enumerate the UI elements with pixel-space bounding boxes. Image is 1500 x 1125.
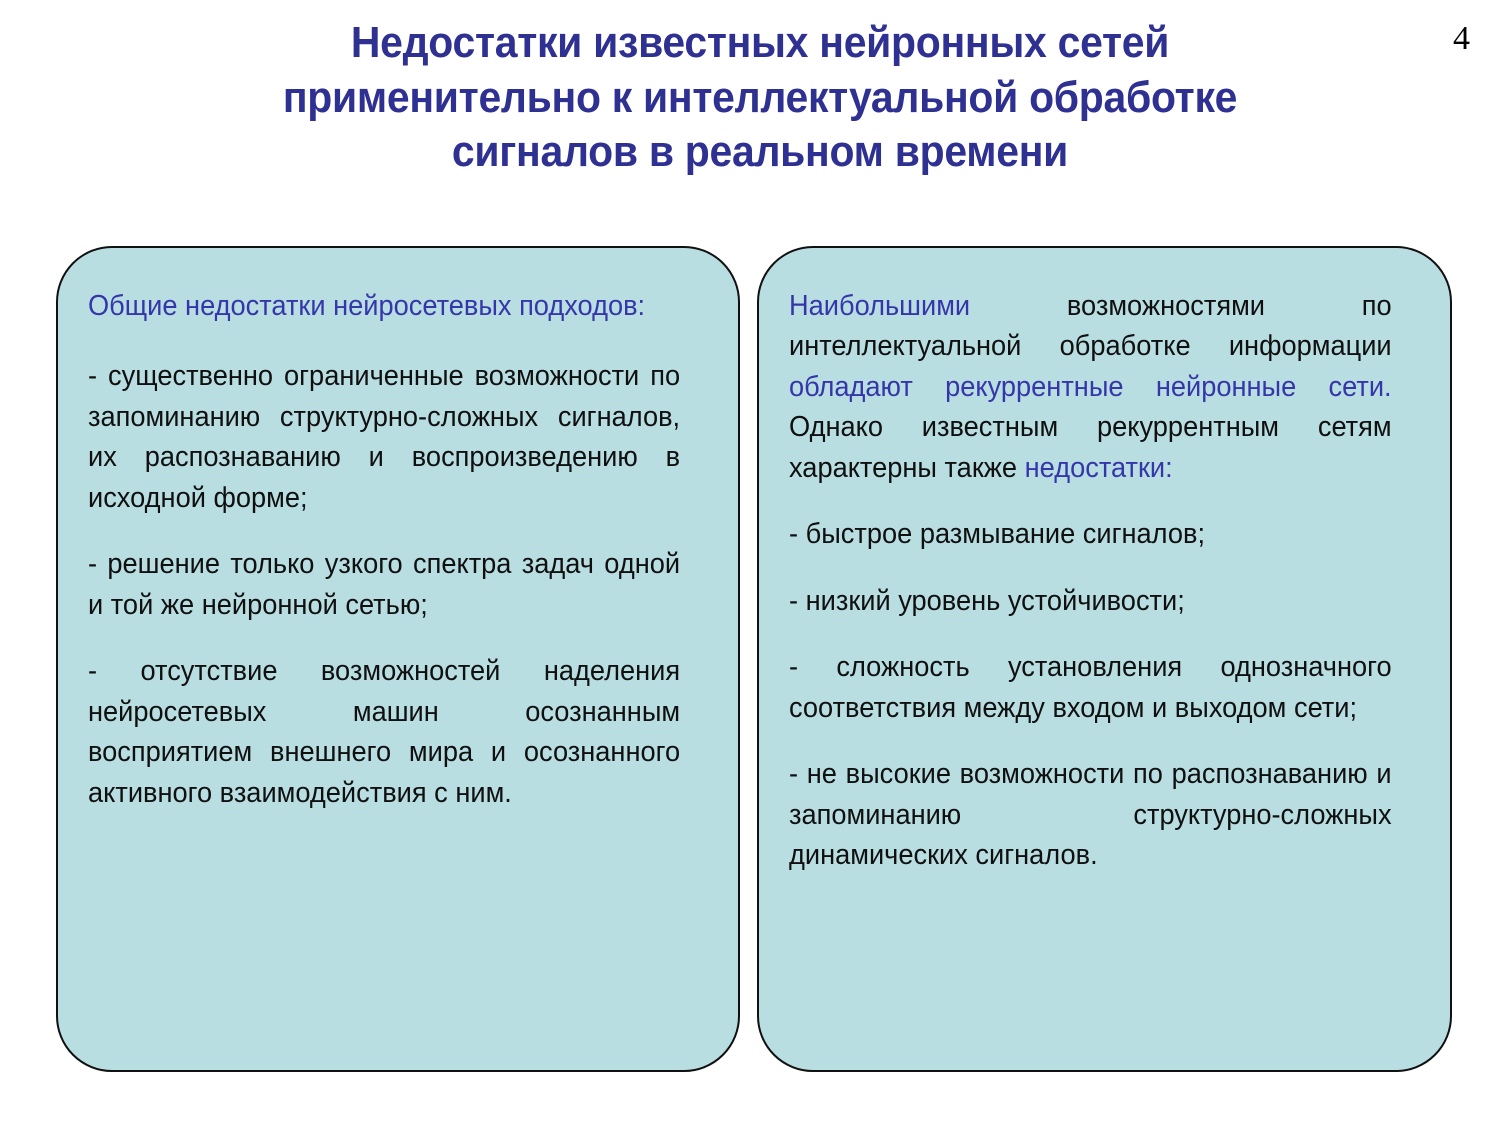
title-line-2: применительно к интеллектуальной обработ… — [165, 71, 1355, 126]
right-panel-bullet-3: - сложность установления однозначного со… — [789, 647, 1392, 728]
page-title: Недостатки известных нейронных сетей при… — [165, 16, 1355, 180]
slide-number: 4 — [1453, 22, 1470, 56]
panel-left-content: Общие недостатки нейросетевых подходов: … — [58, 248, 738, 1070]
left-panel-bullet-2: - решение только узкого спектра задач од… — [88, 544, 680, 625]
slide-root: 4 Недостатки известных нейронных сетей п… — [0, 0, 1500, 1125]
right-panel-intro: Наибольшими возможностями по интеллектуа… — [789, 286, 1392, 488]
right-panel-bullet-4: - не высокие возможности по распознавани… — [789, 754, 1392, 875]
right-intro-part2: обладают рекуррентные нейронные сети. — [789, 371, 1392, 403]
right-intro-part4: недостатки: — [1025, 452, 1173, 484]
panel-right-content: Наибольшими возможностями по интеллектуа… — [759, 248, 1450, 1070]
left-panel-bullet-3: - отсутствие возможностей наделения нейр… — [88, 651, 680, 813]
panel-recurrent-networks: Наибольшими возможностями по интеллектуа… — [757, 246, 1452, 1072]
right-intro-lead-word: Наибольшими — [789, 290, 970, 322]
right-panel-bullet-2: - низкий уровень устойчивости; — [789, 581, 1392, 621]
left-panel-heading: Общие недостатки нейросетевых подходов: — [88, 286, 680, 326]
title-line-3: сигналов в реальном времени — [165, 125, 1355, 180]
panel-general-drawbacks: Общие недостатки нейросетевых подходов: … — [56, 246, 740, 1072]
title-line-1: Недостатки известных нейронных сетей — [165, 16, 1355, 71]
right-panel-bullet-1: - быстрое размывание сигналов; — [789, 514, 1392, 554]
left-panel-bullet-1: - существенно ограниченные возможности п… — [88, 356, 680, 518]
